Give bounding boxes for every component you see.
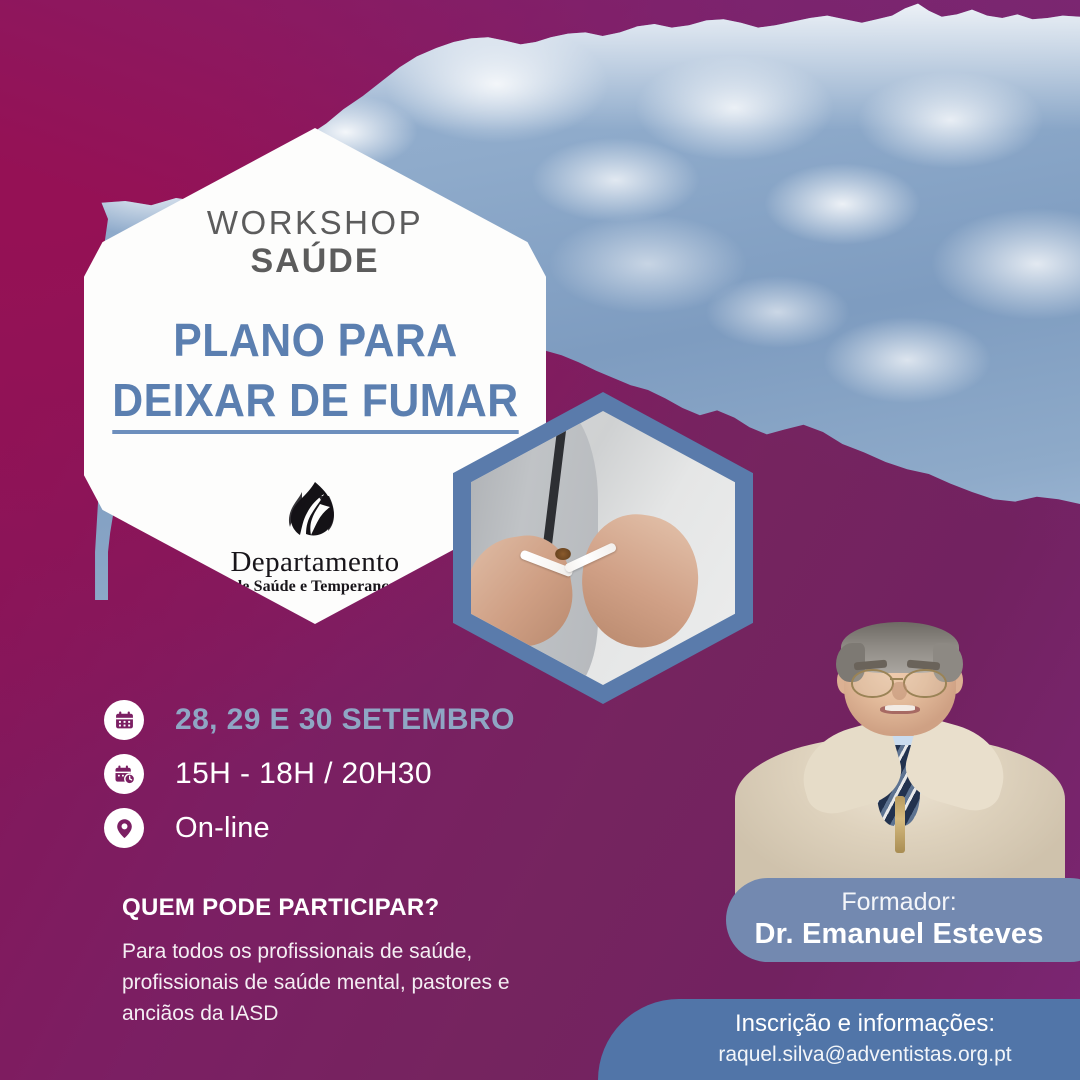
portrait-glasses-left-lens [851,669,895,699]
headline-line-1: PLANO PARA [112,315,518,367]
portrait-glasses-right-lens [903,669,947,699]
event-details-list: 28, 29 E 30 SETEMBRO [104,694,515,856]
audience-title: QUEM PODE PARTICIPAR? [122,894,522,922]
presenter-name: Dr. Emanuel Esteves [754,918,1043,951]
audience-block: QUEM PODE PARTICIPAR? Para todos os prof… [122,894,522,1030]
workshop-kicker: WORKSHOP SAÚDE [207,206,423,278]
portrait-glasses-bridge [890,678,903,681]
presenter-portrait-photo [735,616,1065,916]
cigarette-photo-image [471,411,735,685]
detail-label-time: 15H - 18H / 20H30 [175,757,432,791]
main-headline: PLANO PARA DEIXAR DE FUMAR [97,315,534,434]
portrait-nose [892,682,907,700]
location-pin-icon [104,808,144,848]
kicker-line-1: WORKSHOP [207,206,423,239]
flame-leaf-logo-icon [282,480,348,542]
poster-canvas: WORKSHOP SAÚDE PLANO PARA DEIXAR DE FUMA… [0,0,1080,1080]
headline-line-2: DEIXAR DE FUMAR [112,375,518,435]
portrait-teeth [885,705,915,710]
calendar-icon [104,700,144,740]
contact-email[interactable]: raquel.silva@adventistas.org.pt [718,1042,1011,1068]
presenter-role-label: Formador: [841,889,956,917]
detail-row-location: On-line [104,802,515,854]
contact-banner: Inscrição e informações: raquel.silva@ad… [598,999,1080,1080]
audience-description: Para todos os profissionais de saúde, pr… [122,937,522,1030]
detail-row-time: 15H - 18H / 20H30 [104,748,515,800]
portrait-zipper [895,796,905,853]
detail-row-date: 28, 29 E 30 SETEMBRO [104,694,515,746]
kicker-line-2: SAÚDE [207,244,423,278]
contact-heading: Inscrição e informações: [735,1010,995,1039]
presenter-name-badge: Formador: Dr. Emanuel Esteves [726,878,1080,962]
detail-label-date: 28, 29 E 30 SETEMBRO [175,703,515,737]
calendar-clock-icon [104,754,144,794]
logo-name: Departamento [230,548,399,577]
detail-label-location: On-line [175,812,270,845]
